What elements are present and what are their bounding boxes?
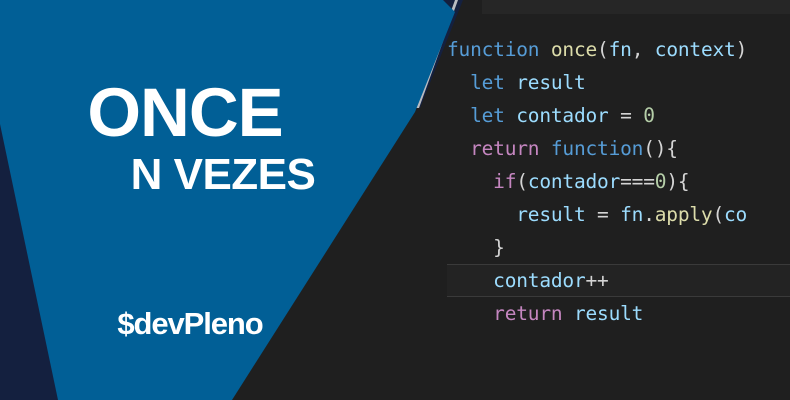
code-token-punct: [447, 137, 470, 160]
code-token-ctl: return: [493, 302, 574, 325]
code-token-punct: [447, 269, 493, 292]
code-token-var: result: [574, 302, 643, 325]
code-line[interactable]: let result: [447, 66, 790, 99]
brand-logo-devpleno: $devPleno: [0, 306, 370, 342]
code-line[interactable]: result = fn.apply(co: [447, 198, 790, 231]
code-token-kw: let: [470, 104, 516, 127]
code-token-var: result: [516, 203, 585, 226]
code-token-var: fn: [609, 38, 632, 61]
code-token-fn: once: [551, 38, 597, 61]
code-listing[interactable]: function once(fn, context) let result le…: [447, 16, 790, 330]
code-token-punct: [447, 236, 493, 259]
code-token-kw: function: [447, 38, 551, 61]
code-line[interactable]: function once(fn, context): [447, 33, 790, 66]
code-token-punct: }: [493, 236, 505, 259]
code-token-punct: ,: [632, 38, 655, 61]
code-line[interactable]: return function(){: [447, 132, 790, 165]
code-token-punct: (){: [643, 137, 678, 160]
code-token-punct: [447, 170, 493, 193]
code-token-var: contador: [516, 104, 608, 127]
code-token-op: =: [586, 203, 621, 226]
code-token-num: 0: [643, 104, 655, 127]
code-token-op: ++: [586, 269, 609, 292]
code-token-var: contador: [493, 269, 585, 292]
code-token-var: co: [724, 203, 747, 226]
code-token-punct: (: [597, 38, 609, 61]
code-line[interactable]: contador++: [447, 264, 790, 297]
slide-canvas: function once(fn, context) let result le…: [0, 0, 790, 400]
code-token-fn: apply: [655, 203, 713, 226]
code-token-var: result: [516, 71, 585, 94]
code-line[interactable]: let contador = 0: [447, 99, 790, 132]
code-token-punct: [447, 203, 516, 226]
code-token-kw: let: [470, 71, 516, 94]
code-line[interactable]: }: [447, 231, 790, 264]
code-line[interactable]: if(contador===0){: [447, 165, 790, 198]
code-line[interactable]: [447, 16, 790, 33]
code-token-punct: [447, 302, 493, 325]
code-line[interactable]: return result: [447, 297, 790, 330]
editor-top-strip: [482, 0, 790, 14]
code-token-punct: [447, 71, 470, 94]
code-token-punct: ): [736, 38, 748, 61]
code-token-var: context: [655, 38, 736, 61]
code-token-punct: .: [643, 203, 655, 226]
code-token-op: ===: [620, 170, 655, 193]
code-token-ctl: return: [470, 137, 551, 160]
code-token-num: 0: [655, 170, 667, 193]
code-token-punct: (: [712, 203, 724, 226]
code-token-punct: [447, 104, 470, 127]
code-token-punct: ){: [666, 170, 689, 193]
code-token-op: =: [609, 104, 644, 127]
code-token-punct: (: [516, 170, 528, 193]
code-token-kw: function: [551, 137, 643, 160]
code-token-var: contador: [528, 170, 620, 193]
code-token-ctl: if: [493, 170, 516, 193]
code-token-var: fn: [620, 203, 643, 226]
